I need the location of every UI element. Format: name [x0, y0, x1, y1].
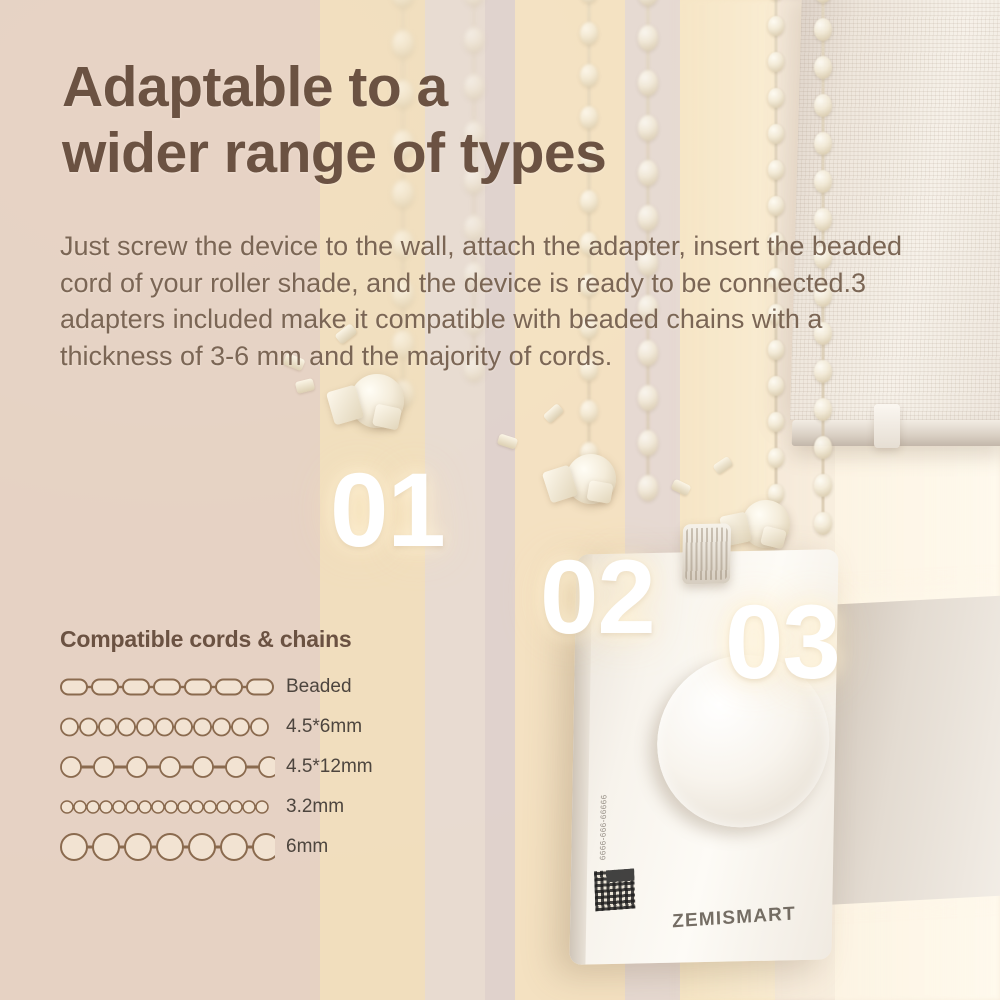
page-title: Adaptable to a wider range of types — [62, 54, 606, 186]
chain-bead — [768, 124, 784, 144]
headline-line-1: Adaptable to a — [62, 55, 448, 119]
step-number-01: 01 — [330, 458, 445, 563]
step-number-02: 02 — [540, 545, 655, 650]
chain-diagram-circle-micro — [60, 787, 275, 827]
chain-bead — [638, 25, 658, 51]
compat-row: 4.5*12mm — [60, 747, 460, 787]
compat-row-label: 3.2mm — [275, 796, 344, 818]
chain-bead — [580, 190, 598, 213]
compat-row: 6mm — [60, 827, 460, 867]
chain-bead — [768, 412, 784, 432]
chain-bead — [638, 115, 658, 141]
compat-section-title: Compatible cords & chains — [60, 626, 460, 653]
chain-bead — [814, 18, 832, 41]
chain-diagram-circle-large — [60, 827, 275, 867]
roller-blind-tab — [874, 404, 900, 448]
step-number-03: 03 — [725, 590, 840, 695]
chain-bead — [768, 52, 784, 72]
chain-bead — [392, 0, 414, 8]
chain-bead — [768, 376, 784, 396]
compat-row: Beaded — [60, 667, 460, 707]
device-cord-plunger — [682, 523, 731, 584]
chain-bead — [814, 474, 832, 497]
compatible-cords-section: Compatible cords & chains Beaded4.5*6mm4… — [60, 626, 460, 867]
chain-bead — [814, 132, 832, 155]
chain-diagram-circle-tight — [60, 707, 275, 747]
compat-row-label: 4.5*6mm — [275, 716, 362, 738]
chain-bead — [814, 170, 832, 193]
headline-line-2: wider range of types — [62, 120, 606, 186]
qr-code — [594, 868, 635, 911]
chain-bead — [638, 70, 658, 96]
chain-bead — [638, 475, 658, 501]
compat-row-label: Beaded — [275, 676, 352, 698]
chain-bead — [638, 160, 658, 186]
chain-bead — [768, 160, 784, 180]
body-copy: Just screw the device to the wall, attac… — [60, 228, 920, 375]
chain-bead — [814, 398, 832, 421]
chain-bead — [814, 0, 832, 3]
chain-bead — [638, 0, 658, 6]
chain-bead — [580, 400, 598, 423]
chain-diagram-circle-wide — [60, 747, 275, 787]
chain-bead — [580, 0, 598, 3]
chain-bead — [768, 196, 784, 216]
roller-blind-lower-panel — [830, 595, 1000, 904]
chain-bead — [638, 205, 658, 231]
compat-rows-container: Beaded4.5*6mm4.5*12mm3.2mm6mm — [60, 667, 460, 867]
device-serial-text: 6666-666-66666 — [598, 794, 608, 860]
chain-bead — [814, 56, 832, 79]
chain-bead — [814, 94, 832, 117]
chain-bead — [768, 88, 784, 108]
chain-bead — [814, 436, 832, 459]
chain-diagram-oval-links — [60, 667, 275, 707]
chain-bead — [768, 448, 784, 468]
chain-bead — [638, 430, 658, 456]
chain-bead — [464, 0, 484, 6]
chain-bead — [638, 385, 658, 411]
brand-logo-text: ZEMISMART — [672, 903, 796, 933]
chain-bead — [768, 16, 784, 36]
chain-bead — [464, 27, 484, 53]
chain-bead — [580, 22, 598, 45]
compat-row-label: 4.5*12mm — [275, 756, 373, 778]
chain-bead — [814, 512, 832, 535]
compat-row: 4.5*6mm — [60, 707, 460, 747]
compat-row-label: 6mm — [275, 836, 328, 858]
product-marketing-image: 6666-666-66666 ZEMISMART Adaptable to a … — [0, 0, 1000, 1000]
compat-row: 3.2mm — [60, 787, 460, 827]
